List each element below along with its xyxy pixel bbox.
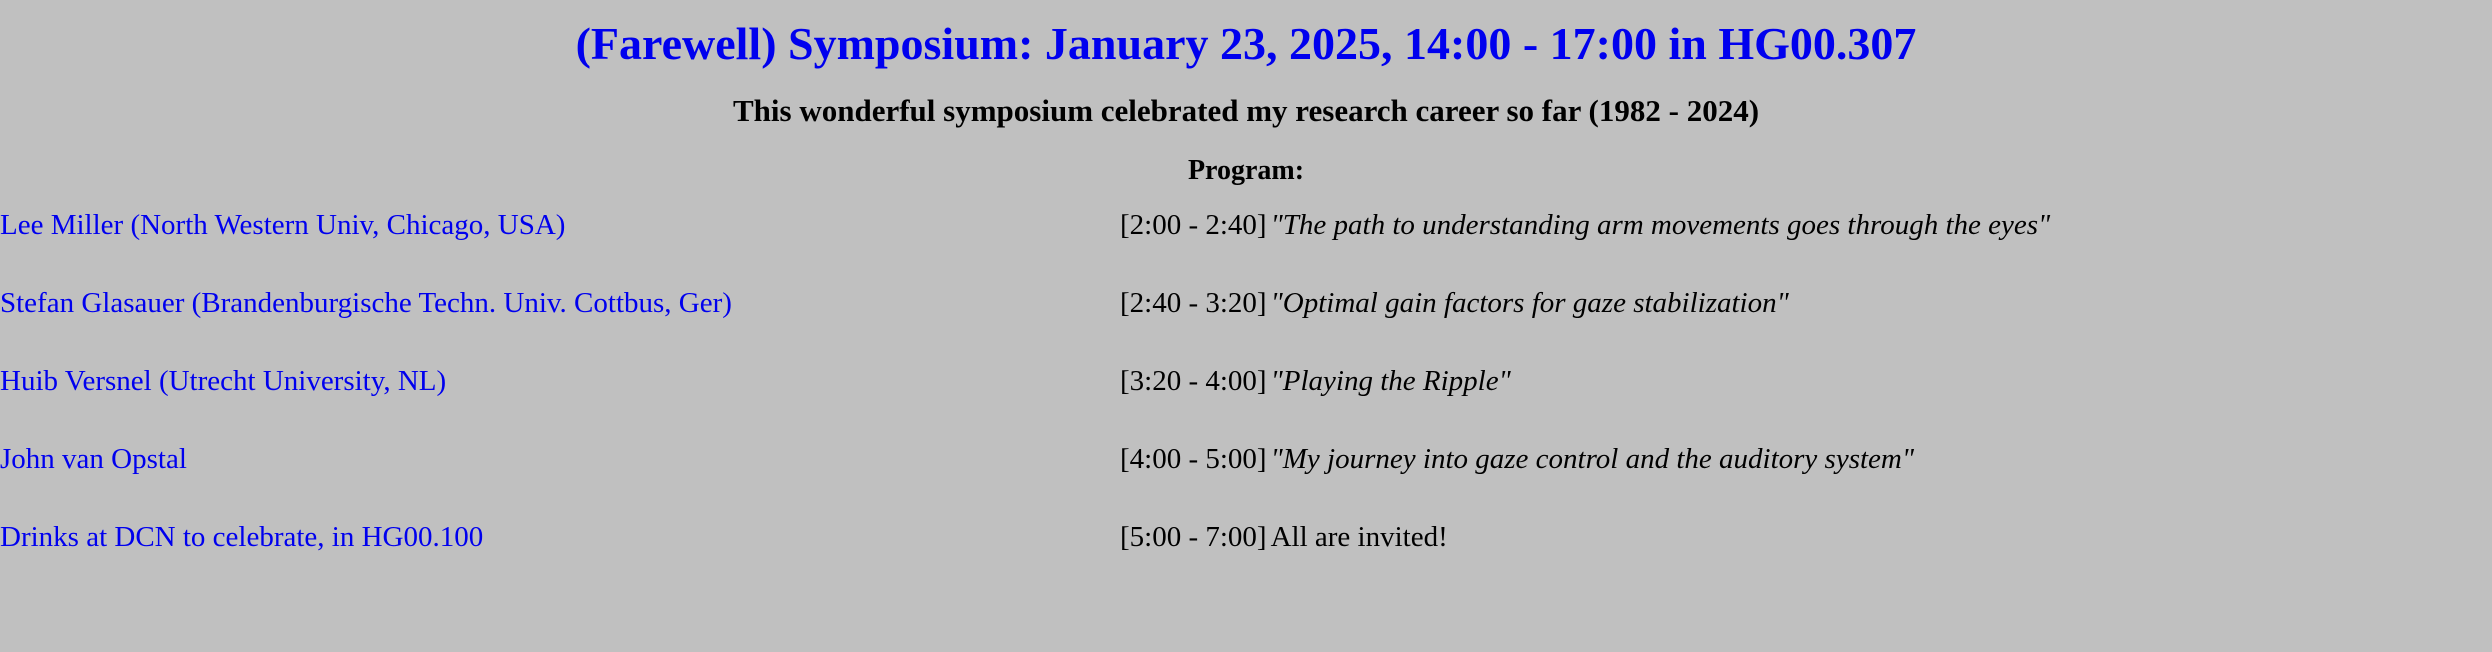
talk-cell: [4:00 - 5:00] "My journey into gaze cont… (1120, 421, 2492, 499)
speaker-cell: Stefan Glasauer (Brandenburgische Techn.… (0, 265, 1120, 343)
speaker-link[interactable]: Huib Versnel (Utrecht University, NL) (0, 365, 446, 397)
table-row: Stefan Glasauer (Brandenburgische Techn.… (0, 265, 2492, 343)
slot-time: [2:40 - 3:20] (1120, 287, 1267, 319)
page-title: (Farewell) Symposium: January 23, 2025, … (0, 0, 2492, 71)
speaker-cell: Lee Miller (North Western Univ, Chicago,… (0, 187, 1120, 265)
speaker-link[interactable]: Lee Miller (North Western Univ, Chicago,… (0, 209, 565, 241)
speaker-cell: John van Opstal (0, 421, 1120, 499)
speaker-cell: Drinks at DCN to celebrate, in HG00.100 (0, 499, 1120, 577)
page-subtitle: This wonderful symposium celebrated my r… (0, 71, 2492, 129)
program-table: Lee Miller (North Western Univ, Chicago,… (0, 187, 2492, 577)
talk-cell: [3:20 - 4:00] "Playing the Ripple" (1120, 343, 2492, 421)
slot-time: [3:20 - 4:00] (1120, 365, 1267, 397)
table-row: Drinks at DCN to celebrate, in HG00.100 … (0, 499, 2492, 577)
speaker-link[interactable]: Drinks at DCN to celebrate, in HG00.100 (0, 521, 483, 553)
symposium-page: (Farewell) Symposium: January 23, 2025, … (0, 0, 2492, 652)
table-row: Huib Versnel (Utrecht University, NL) [3… (0, 343, 2492, 421)
speaker-link[interactable]: Stefan Glasauer (Brandenburgische Techn.… (0, 287, 732, 319)
slot-title: "The path to understanding arm movements… (1271, 209, 2051, 241)
program-heading: Program: (0, 129, 2492, 187)
talk-cell: [2:00 - 2:40] "The path to understanding… (1120, 187, 2492, 265)
table-row: Lee Miller (North Western Univ, Chicago,… (0, 187, 2492, 265)
program-table-body: Lee Miller (North Western Univ, Chicago,… (0, 187, 2492, 577)
speaker-cell: Huib Versnel (Utrecht University, NL) (0, 343, 1120, 421)
slot-title: "Playing the Ripple" (1271, 365, 1511, 397)
slot-title: "My journey into gaze control and the au… (1271, 443, 1914, 475)
slot-time: [2:00 - 2:40] (1120, 209, 1267, 241)
talk-cell: [2:40 - 3:20] "Optimal gain factors for … (1120, 265, 2492, 343)
slot-time: [4:00 - 5:00] (1120, 443, 1267, 475)
talk-cell: [5:00 - 7:00] All are invited! (1120, 499, 2492, 577)
speaker-link[interactable]: John van Opstal (0, 443, 187, 475)
slot-title: All are invited! (1271, 521, 1448, 553)
table-row: John van Opstal [4:00 - 5:00] "My journe… (0, 421, 2492, 499)
slot-title: "Optimal gain factors for gaze stabiliza… (1271, 287, 1789, 319)
slot-time: [5:00 - 7:00] (1120, 521, 1267, 553)
